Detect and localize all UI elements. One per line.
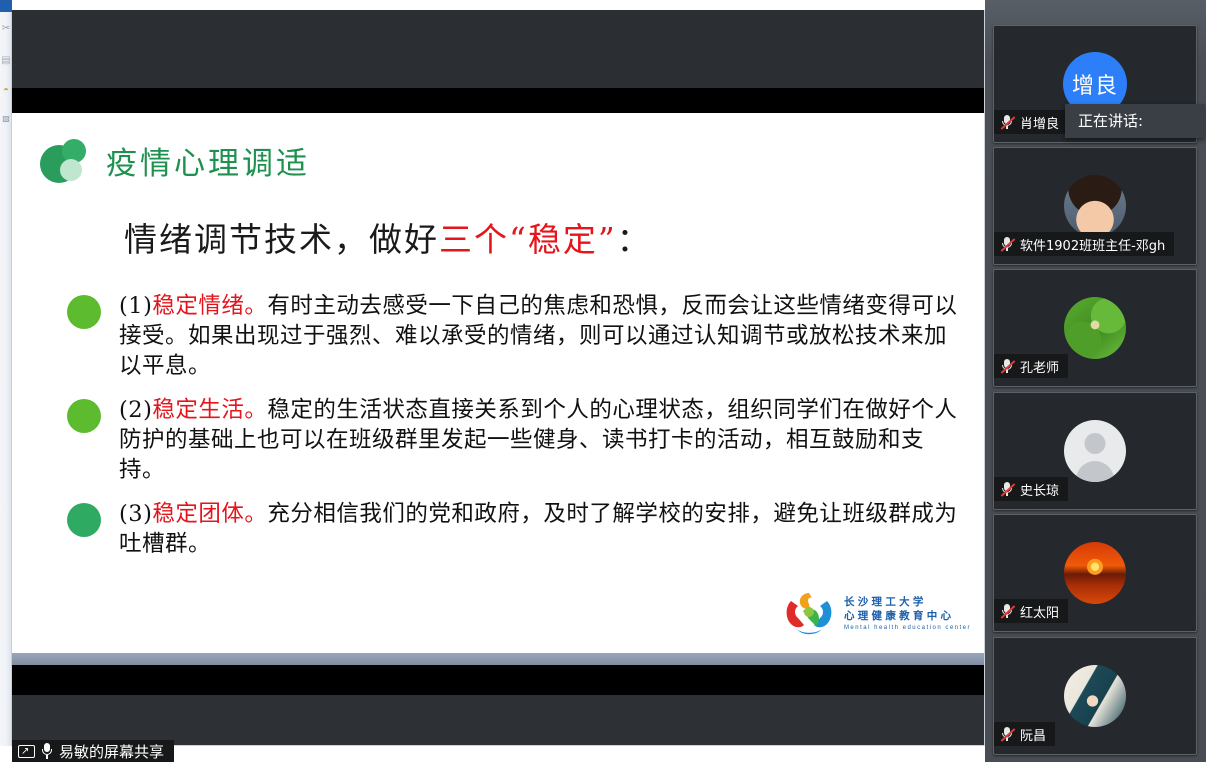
slide-bullet-item: (3)稳定团体。充分相信我们的党和政府，及时了解学校的安排，避免让班级群成为吐槽… xyxy=(67,499,967,559)
participant-tile[interactable]: 史长琼 xyxy=(993,392,1197,510)
bullet-dot-icon xyxy=(67,399,101,433)
participant-name-bar: 软件1902班班主任-邓gh xyxy=(994,232,1174,256)
screen-share-icon: ↗ xyxy=(18,745,35,758)
presentation-slide: 疫情心理调适 情绪调节技术，做好三个“稳定”： (1)稳定情绪。有时主动去感受一… xyxy=(12,113,985,653)
bullet-dot-icon xyxy=(67,295,101,329)
avatar xyxy=(1064,665,1126,727)
participant-name: 孔老师 xyxy=(1020,357,1059,376)
slide-bullet-list: (1)稳定情绪。有时主动去感受一下自己的焦虑和恐惧，反而会让这些情绪变得可以接受… xyxy=(67,291,967,573)
microphone-icon xyxy=(41,743,53,759)
participant-name-bar: 史长琼 xyxy=(994,477,1068,501)
avatar xyxy=(1064,420,1126,482)
participant-name-bar: 阮昌 xyxy=(994,722,1055,746)
bullet-index: (3) xyxy=(119,501,152,527)
screen-share-status-bar: ↗ 易敏的屏幕共享 xyxy=(12,740,174,762)
bullet-text: (1)稳定情绪。有时主动去感受一下自己的焦虑和恐惧，反而会让这些情绪变得可以接受… xyxy=(119,291,967,381)
participant-name: 史长琼 xyxy=(1020,480,1059,499)
bullet-index: (2) xyxy=(119,397,152,423)
shared-screen-region: 疫情心理调适 情绪调节技术，做好三个“稳定”： (1)稳定情绪。有时主动去感受一… xyxy=(12,10,985,746)
microphone-muted-icon xyxy=(1000,236,1015,252)
clipboard-icon[interactable]: ▤ xyxy=(0,54,12,68)
participant-name-bar: 孔老师 xyxy=(994,354,1068,378)
slide-title-row: 疫情心理调适 xyxy=(40,138,310,183)
slide-subtitle-tail: ： xyxy=(617,220,652,259)
shared-screen-letterbox-bottom xyxy=(12,695,985,746)
bullet-text: (3)稳定团体。充分相信我们的党和政府，及时了解学校的安排，避免让班级群成为吐槽… xyxy=(119,499,967,559)
bullet-index: (1) xyxy=(119,293,152,319)
microphone-muted-icon xyxy=(1000,603,1015,619)
bullet-dot-icon xyxy=(67,503,101,537)
participant-name: 肖增良 xyxy=(1020,113,1059,132)
avatar xyxy=(1064,175,1126,237)
active-speaker-tooltip: 正在讲话: xyxy=(1065,104,1205,138)
bullet-keyword: 稳定生活。 xyxy=(152,397,267,423)
participant-tile[interactable]: 软件1902班班主任-邓gh xyxy=(993,147,1197,265)
logo-mark-icon xyxy=(783,591,835,637)
slide-subtitle: 情绪调节技术，做好三个“稳定”： xyxy=(124,213,652,261)
participant-name-bar: 红太阳 xyxy=(994,599,1068,623)
slide-bullet-item: (2)稳定生活。稳定的生活状态直接关系到个人的心理状态，组织同学们在做好个人防护… xyxy=(67,395,967,485)
participant-tile[interactable]: 孔老师 xyxy=(993,269,1197,387)
avatar xyxy=(1064,297,1126,359)
microphone-muted-icon xyxy=(1000,358,1015,374)
bullet-keyword: 稳定情绪。 xyxy=(152,293,267,319)
avatar xyxy=(1064,542,1126,604)
avatar-initials: 增良 xyxy=(1072,68,1118,100)
slide-subtitle-highlight: 三个“稳定” xyxy=(439,220,617,259)
microphone-muted-icon xyxy=(1000,114,1015,130)
logo-line-2: 心理健康教育中心 xyxy=(844,611,971,622)
participant-name: 软件1902班班主任-邓gh xyxy=(1020,235,1165,254)
active-speaker-label: 正在讲话: xyxy=(1078,112,1143,130)
microphone-muted-icon xyxy=(1000,726,1015,742)
paste-options-icon[interactable]: ▧ xyxy=(0,112,12,126)
shared-screen-black-band-bottom xyxy=(12,665,985,695)
cut-icon[interactable]: ✂ xyxy=(0,22,12,36)
shared-screen-black-band-top xyxy=(12,88,985,113)
logo-line-1: 长沙理工大学 xyxy=(844,597,971,608)
bullet-keyword: 稳定团体。 xyxy=(152,501,267,527)
shared-screen-letterbox-top xyxy=(12,10,985,88)
microphone-muted-icon xyxy=(1000,481,1015,497)
participant-name: 阮昌 xyxy=(1020,725,1046,744)
slide-subtitle-lead: 情绪调节技术，做好 xyxy=(124,220,439,259)
slide-title: 疫情心理调适 xyxy=(106,138,310,183)
title-bullet-icon xyxy=(40,139,86,183)
meeting-screen-share-window: ✂ ▤ ◓ ▧ 疫情心理调适 情绪调节技术，做好三个“稳定”： xyxy=(0,0,1206,762)
app-title-bar-sliver xyxy=(0,0,12,12)
background-app-rail: ✂ ▤ ◓ ▧ xyxy=(0,0,12,746)
shared-screen-taskbar-sliver xyxy=(12,653,985,665)
slide-bullet-item: (1)稳定情绪。有时主动去感受一下自己的焦虑和恐惧，反而会让这些情绪变得可以接受… xyxy=(67,291,967,381)
participant-tile[interactable]: 红太阳 xyxy=(993,514,1197,632)
logo-text: 长沙理工大学 心理健康教育中心 Mental health education … xyxy=(844,597,971,631)
screen-share-owner-label: 易敏的屏幕共享 xyxy=(59,741,164,762)
organization-logo: 长沙理工大学 心理健康教育中心 Mental health education … xyxy=(783,591,971,637)
bullet-text: (2)稳定生活。稳定的生活状态直接关系到个人的心理状态，组织同学们在做好个人防护… xyxy=(119,395,967,485)
participant-name: 红太阳 xyxy=(1020,602,1059,621)
logo-line-3: Mental health education center xyxy=(844,625,971,631)
format-painter-icon[interactable]: ◓ xyxy=(0,84,12,98)
participant-name-bar: 肖增良 xyxy=(994,110,1068,134)
participant-tile[interactable]: 阮昌 xyxy=(993,637,1197,755)
